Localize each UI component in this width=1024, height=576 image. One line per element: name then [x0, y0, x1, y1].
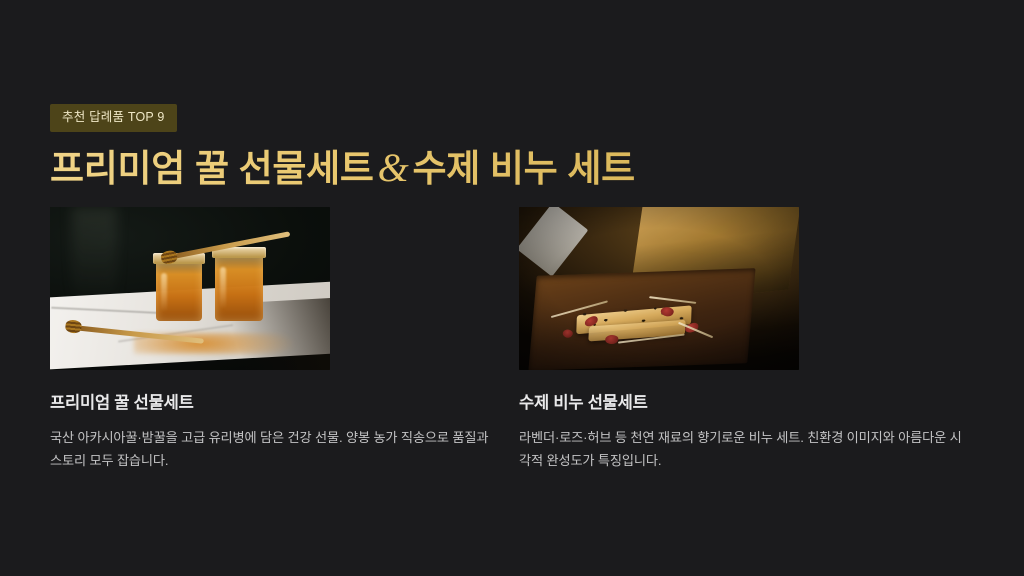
product-card-description: 라벤더·로즈·허브 등 천연 재료의 향기로운 비누 세트. 친환경 이미지와 … [519, 427, 971, 472]
page-title-part1: 프리미엄 꿀 선물세트 [50, 148, 374, 189]
honey-jar-left [156, 261, 202, 321]
category-badge: 추천 답례품 TOP 9 [50, 104, 177, 132]
slide-header: 추천 답례품 TOP 9 프리미엄 꿀 선물세트&수제 비누 세트 [50, 104, 970, 190]
handmade-soap-gift-set-photo [519, 207, 799, 370]
soap-scene [519, 207, 799, 370]
honey-scene [50, 207, 330, 370]
page-title: 프리미엄 꿀 선물세트&수제 비누 세트 [50, 146, 970, 191]
product-card[interactable]: 수제 비누 선물세트 라벤더·로즈·허브 등 천연 재료의 향기로운 비누 세트… [519, 207, 799, 472]
ampersand-glyph: & [374, 145, 413, 190]
honey-gift-set-photo [50, 207, 330, 370]
product-card-title: 프리미엄 꿀 선물세트 [50, 389, 330, 413]
product-card-description: 국산 아카시아꿀·밤꿀을 고급 유리병에 담은 건강 선물. 양봉 농가 직송으… [50, 427, 502, 472]
slide-root: 추천 답례품 TOP 9 프리미엄 꿀 선물세트&수제 비누 세트 [0, 0, 1024, 576]
honey-jar-right [215, 255, 263, 321]
product-card[interactable]: 프리미엄 꿀 선물세트 국산 아카시아꿀·밤꿀을 고급 유리병에 담은 건강 선… [50, 207, 330, 472]
product-card-list: 프리미엄 꿀 선물세트 국산 아카시아꿀·밤꿀을 고급 유리병에 담은 건강 선… [50, 207, 974, 472]
product-card-title: 수제 비누 선물세트 [519, 389, 799, 413]
soap-vignette [519, 207, 799, 370]
page-title-part2: 수제 비누 세트 [412, 148, 634, 189]
